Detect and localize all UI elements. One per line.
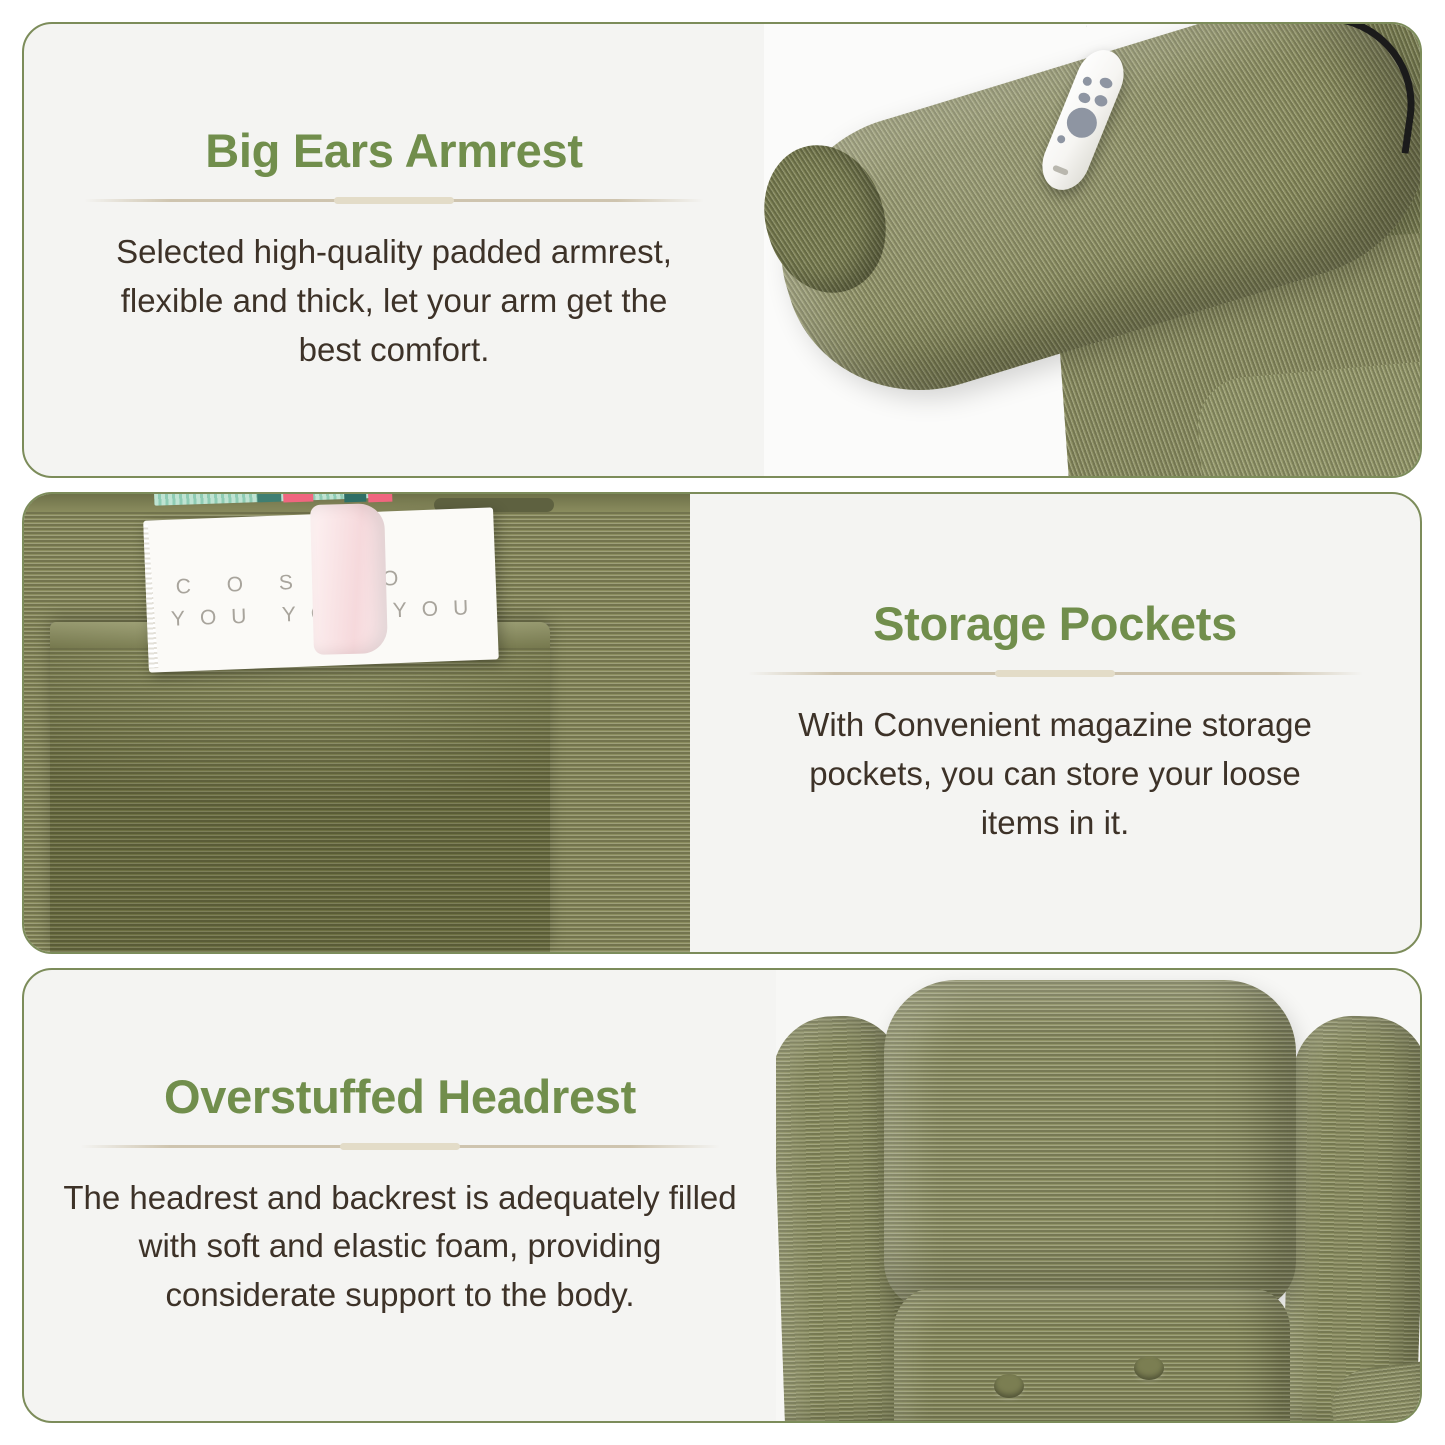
upholstery-button-left (994, 1374, 1024, 1398)
upholstery-button-right (1134, 1356, 1164, 1380)
feature-panel-storage: C O S M O YOU YOU YOU Storage Pockets Wi… (22, 492, 1422, 954)
backrest-cushion (894, 1288, 1290, 1421)
panel-1-heading: Big Ears Armrest (205, 125, 582, 177)
magazine-color-block-pink-2 (368, 494, 393, 502)
panel-1-image-armrest (764, 24, 1420, 476)
panel-2-image-storage-pocket: C O S M O YOU YOU YOU (24, 494, 690, 952)
panel-1-body: Selected high-quality padded armrest, fl… (89, 228, 699, 374)
remote-button-heat-icon[interactable] (1098, 76, 1114, 90)
panel-2-divider (748, 672, 1363, 675)
pocket-shading (50, 622, 550, 952)
panel-3-text-column: Overstuffed Headrest The headrest and ba… (24, 970, 776, 1421)
magazine-color-block-teal (257, 494, 282, 502)
remote-port-slot (1052, 164, 1069, 176)
panel-2-text-column: Storage Pockets With Convenient magazine… (690, 494, 1420, 952)
magazine-storage-pocket (50, 622, 550, 952)
chair-right-wing (1281, 1014, 1420, 1421)
panel-1-divider (84, 199, 704, 202)
panel-2-heading: Storage Pockets (873, 598, 1237, 650)
feature-panel-headrest: Overstuffed Headrest The headrest and ba… (22, 968, 1422, 1423)
panel-2-body: With Convenient magazine storage pockets… (770, 701, 1340, 847)
panel-3-divider (80, 1145, 720, 1148)
panel-3-image-headrest (776, 970, 1420, 1421)
infographic-page: Big Ears Armrest Selected high-quality p… (0, 0, 1445, 1445)
magazine-color-block-pink (283, 494, 314, 503)
remote-dial-icon[interactable] (1062, 103, 1101, 142)
magazine-color-block-teal-2 (344, 494, 367, 502)
remote-button-power-icon[interactable] (1081, 75, 1093, 87)
remote-button-massage-icon[interactable] (1093, 93, 1109, 108)
remote-button-small-icon[interactable] (1056, 134, 1066, 144)
magazine-rolled-page (310, 503, 388, 655)
panel-3-heading: Overstuffed Headrest (164, 1071, 636, 1123)
overstuffed-headrest-cushion (884, 980, 1296, 1310)
panel-1-text-column: Big Ears Armrest Selected high-quality p… (24, 24, 764, 476)
remote-button-mode-icon[interactable] (1077, 91, 1092, 105)
panel-3-body: The headrest and backrest is adequately … (55, 1174, 745, 1320)
feature-panel-armrest: Big Ears Armrest Selected high-quality p… (22, 22, 1422, 478)
